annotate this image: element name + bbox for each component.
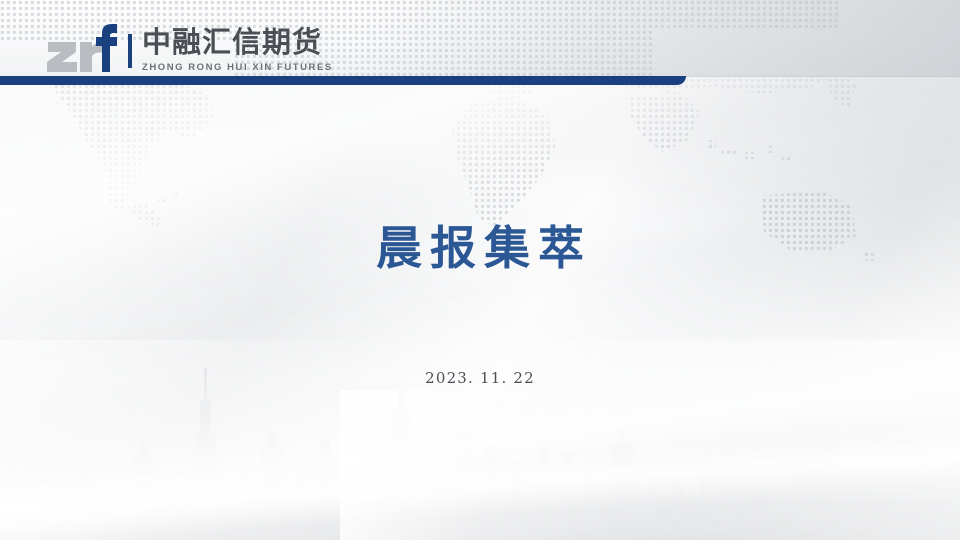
title-slide: 中融汇信期货 ZHONG RONG HUI XIN FUTURES 晨报集萃 2… [0, 0, 960, 540]
slide-date: 2023. 11. 22 [0, 369, 960, 387]
company-logo[interactable]: 中融汇信期货 ZHONG RONG HUI XIN FUTURES [46, 22, 333, 74]
blue-accent-bar [0, 76, 682, 85]
logo-text-block: 中融汇信期货 ZHONG RONG HUI XIN FUTURES [142, 28, 333, 75]
company-name-en: ZHONG RONG HUI XIN FUTURES [142, 63, 333, 73]
company-name-cn: 中融汇信期货 [142, 28, 333, 57]
logo-divider [128, 34, 132, 68]
header-shade [365, 0, 960, 76]
blue-accent-bar-cap [640, 76, 686, 85]
zrf-logomark-icon [46, 24, 118, 74]
slide-title: 晨报集萃 [0, 212, 960, 278]
